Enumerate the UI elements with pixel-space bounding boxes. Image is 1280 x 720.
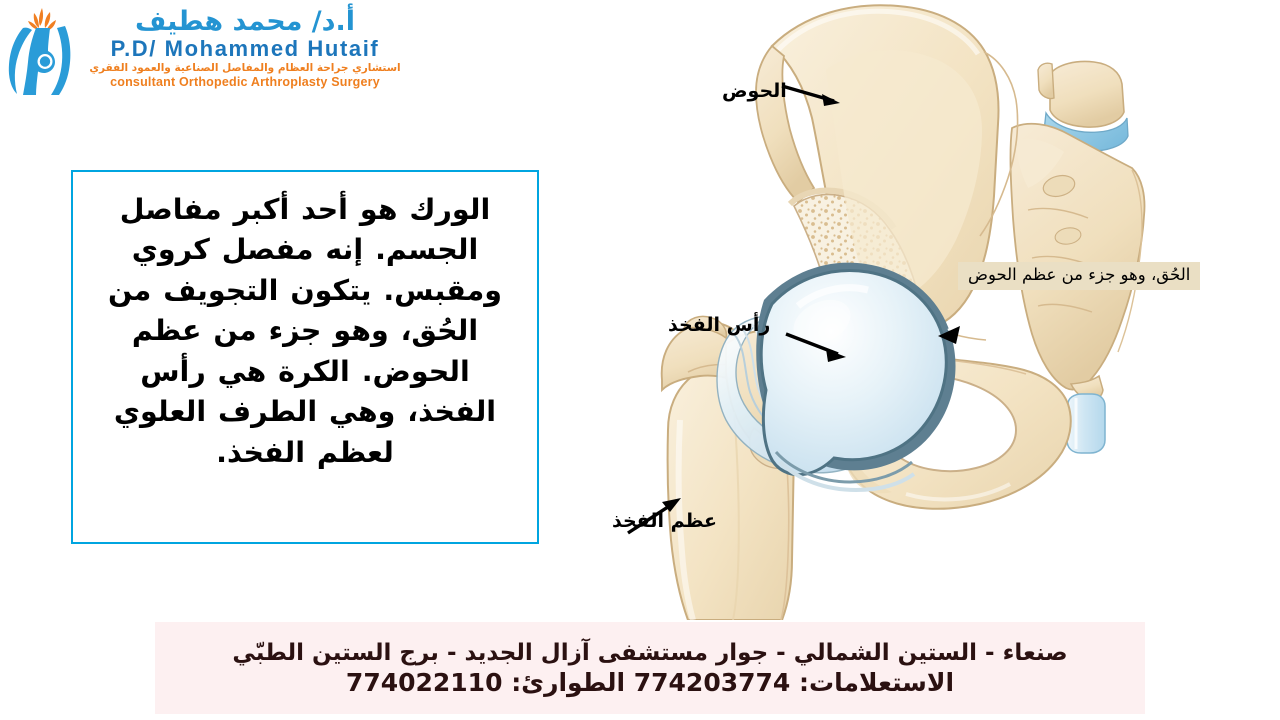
logo-english-name: P.D/ Mohammed Hutaif xyxy=(111,36,380,61)
label-pelvis: الحوض xyxy=(722,82,787,101)
clinic-logo: أ.د/ محمد هطيف P.D/ Mohammed Hutaif استش… xyxy=(4,4,404,104)
logo-english-subtitle: consultant Orthopedic Arthroplasty Surge… xyxy=(110,75,380,91)
footer-address: صنعاء - الستين الشمالي - جوار مستشفى آزا… xyxy=(232,640,1067,666)
description-card: الورك هو أحد أكبر مفاصل الجسم. إنه مفصل … xyxy=(71,170,539,544)
label-acetabulum: الحُق، وهو جزء من عظم الحوض xyxy=(958,262,1200,290)
label-femoral-head: رأس الفخذ xyxy=(668,316,770,335)
logo-arabic-subtitle: استشاري جراحة العظام والمفاصل الصناعية و… xyxy=(89,62,400,76)
contact-footer: صنعاء - الستين الشمالي - جوار مستشفى آزا… xyxy=(155,622,1145,714)
knee-joint-flame-logo-icon xyxy=(4,4,80,96)
logo-arabic-name: أ.د/ محمد هطيف xyxy=(135,8,355,36)
footer-phone-numbers: الاستعلامات: 774203774 الطوارئ: 77402211… xyxy=(346,668,954,697)
slide-canvas: أ.د/ محمد هطيف P.D/ Mohammed Hutaif استش… xyxy=(0,0,1280,720)
label-femur: عظم الفخذ xyxy=(612,512,717,531)
description-text: الورك هو أحد أكبر مفاصل الجسم. إنه مفصل … xyxy=(93,190,517,473)
